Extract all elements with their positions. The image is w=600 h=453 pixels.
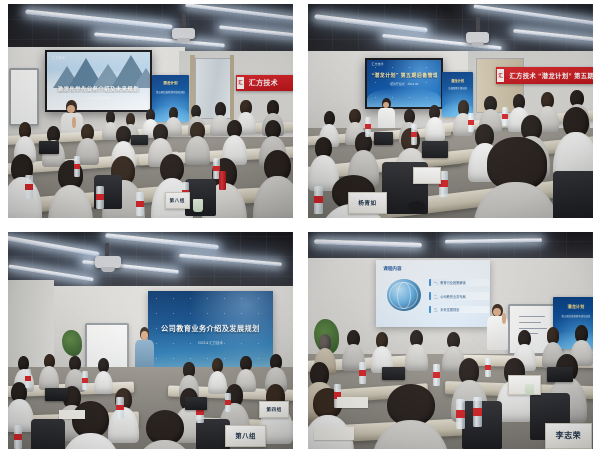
paper-cup [525,384,535,395]
audience-member [39,354,59,389]
slide-title: “潜龙计划” 第五期后备管理干部培训班 [371,72,436,79]
name-card: 第四组 [259,401,290,418]
audience-member [371,332,394,371]
slide-logo: 汇方技术 [371,62,383,66]
chair [553,171,593,218]
slide-bullet: 二、公司教育业务布局 [429,292,489,299]
banner-badge: 汇 [237,77,244,89]
audience-member-foreground [59,401,122,449]
banner-badge: 汇 [497,69,504,82]
name-card-text: 杨青如 [358,199,376,207]
audience-member [425,105,445,139]
beverage-can [219,171,226,190]
poster-title: 潜龙计划 [557,304,593,310]
name-card-text: 第四组 [266,407,281,413]
name-card-text: 第八组 [235,431,256,440]
banner-text: 汇方技术 [245,78,278,88]
water-bottle [225,393,232,413]
event-banner: 汇 汇方技术 [236,75,293,91]
banner-text: 汇方技术 “潜龙计划” 第五期后... [505,71,593,80]
audience-member-foreground [473,137,559,218]
whiteboard [9,68,39,126]
name-card [413,167,441,184]
audience-member [405,330,428,369]
audience-member [48,160,94,218]
projector [172,28,195,40]
poster-title: 潜龙计划 [155,81,186,86]
photo-bottom-left: 公司教育业务介绍及发展规划 2023.6 汇方技术 [8,232,293,449]
slide-subtitle: 2023.6 | 汇方技术 [47,96,150,100]
water-bottle [485,358,491,378]
water-bottle [136,192,143,216]
poster-subtitle: 后备管理干部培训 [444,86,472,90]
laptop [45,388,68,401]
computer-mouse [408,201,425,212]
laptop [382,367,405,380]
presenter-arm [72,117,76,128]
event-banner: 汇 汇方技术 “潜龙计划” 第五期后... [496,67,593,84]
poster-subtitle: 第五期后备管理干部培训班 [556,314,593,318]
paper-cup [193,199,203,212]
handout [337,397,368,408]
projector [466,32,489,43]
slide-heading: 课程内容 [383,266,401,272]
laptop [422,141,448,158]
handout [59,410,85,419]
audience-member-foreground [133,410,196,449]
poster-subtitle: 第五期后备管理干部培训班 [154,90,187,94]
water-bottle [411,124,418,145]
potted-plant [62,330,82,356]
audience-member-foreground [371,384,451,449]
slide-bullet: 一、教育行业政策解读 [429,279,489,286]
slide-title: 公司教育业务介绍及发展规划 [155,324,265,334]
water-bottle [314,186,323,214]
handout [314,427,354,440]
slide-subtitle: 2023.6 汇方技术 [148,340,273,345]
water-bottle [25,175,32,199]
laptop [374,132,394,145]
laptop [185,397,208,410]
slide-bullet: 三、未来发展规划 [429,306,489,313]
water-bottle [25,369,31,389]
photo-top-right: 汇方技术 “潜龙计划” 第五期后备管理干部培训班 培训开班式 · 2023.06… [308,4,593,218]
water-bottle [456,399,465,429]
globe-graphic [387,279,421,311]
laptop [39,141,59,154]
water-bottle [96,186,103,210]
name-card: 第八组 [165,192,190,209]
presentation-screen: 课程内容 一、教育行业政策解读 二、公司教育业务布局 三、未来发展规划 [376,260,490,327]
slide-subtitle: 培训开班式 · 2023.06 [367,82,441,86]
audience-member [553,107,593,180]
laptop [131,135,148,146]
photo-collage: 汇方技术 激发先举先业务介绍及未来规划 2023.6 | 汇方技术 潜龙计划 第… [0,0,600,453]
water-bottle [82,371,88,391]
water-bottle [468,113,474,132]
projector [95,256,121,268]
water-bottle [116,397,123,419]
audience-member [222,120,248,163]
water-bottle [502,107,508,126]
water-bottle [74,156,81,177]
name-card: 杨青如 [348,192,387,213]
water-bottle [359,362,366,384]
chair [31,419,65,449]
audience-member [253,150,293,218]
water-bottle [473,397,482,427]
name-card-text: 第八组 [170,198,185,204]
poster-title: 潜龙计划 [444,78,470,83]
audience-member [8,382,34,430]
water-bottle [433,364,440,386]
slide-title: 激发先举先业务介绍及未来规划 [53,85,143,93]
water-bottle [14,425,23,449]
slide-logo: 汇方技术 [52,55,65,60]
name-card: 第八组 [225,425,267,447]
laptop [547,367,573,382]
photo-top-left: 汇方技术 激发先举先业务介绍及未来规划 2023.6 | 汇方技术 潜龙计划 第… [8,4,293,218]
water-bottle [365,117,371,136]
name-card: 李志荣 [545,423,593,449]
name-card-text: 李志荣 [556,430,582,441]
photo-bottom-right: 课程内容 一、教育行业政策解读 二、公司教育业务布局 三、未来发展规划 潜龙计划… [308,232,593,449]
door-frame [230,55,234,119]
